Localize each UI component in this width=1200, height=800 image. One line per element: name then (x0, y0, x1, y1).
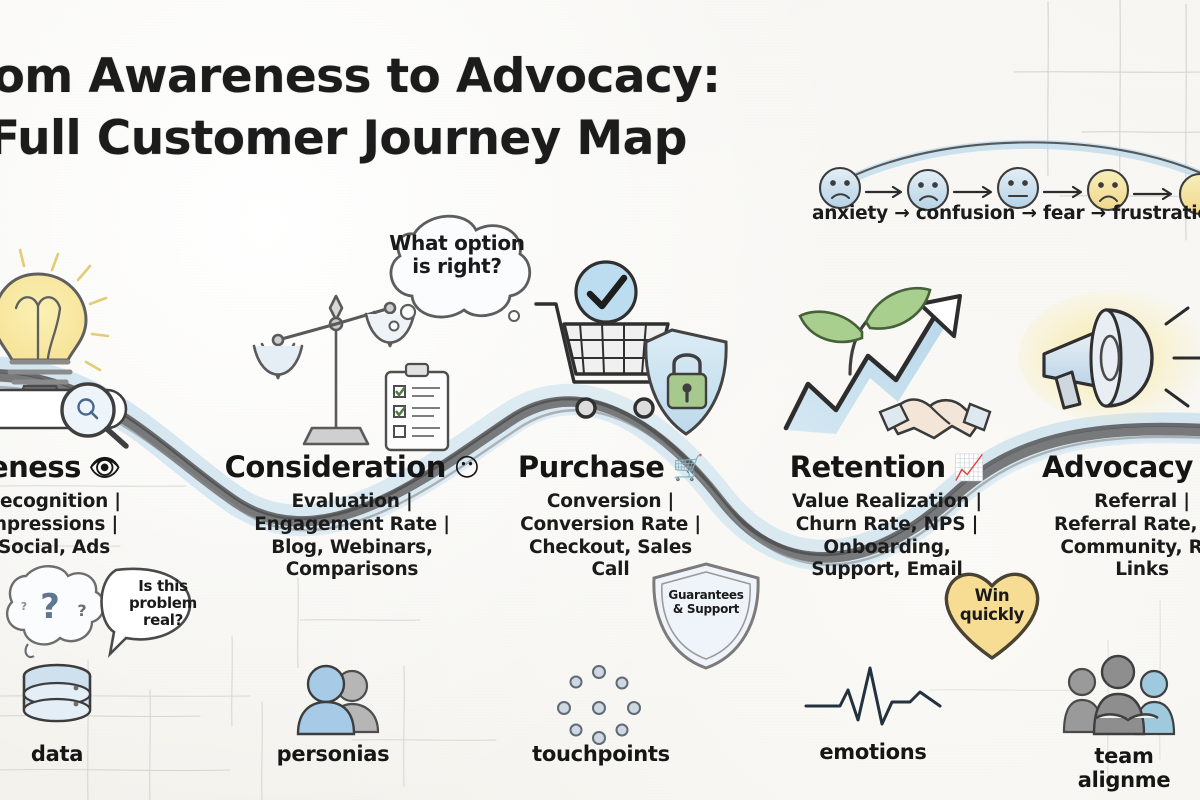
shield-lock-icon (646, 330, 726, 434)
stage-retention-details: Value Realization | Churn Rate, NPS | On… (782, 491, 992, 582)
team-icon (1030, 654, 1200, 740)
purchase-icon-group (540, 262, 740, 442)
title-line-1: rom Awareness to Advocacy: (0, 49, 720, 104)
check-circle-icon (576, 262, 636, 322)
legend-item-data[interactable]: data (0, 658, 142, 766)
stage-retention-label: Retention (790, 450, 946, 484)
legend-label-personias: personias (248, 742, 418, 766)
journey-map-canvas: rom Awareness to Advocacy: Full Customer… (0, 0, 1200, 800)
dot-cluster-icon (516, 658, 686, 738)
stage-consideration[interactable]: Consideration 😶 Evaluation | Engagement … (242, 450, 462, 582)
eye-icon: 👁 (89, 455, 120, 480)
legend-label-data: data (0, 742, 142, 766)
neutral-face-icon: 😶 (454, 455, 480, 480)
stage-consideration-details: Evaluation | Engagement Rate | Blog, Web… (242, 491, 462, 582)
problem-speech-text: Is this problem real? (120, 578, 206, 629)
legend-item-personias[interactable]: personias (248, 660, 418, 766)
question-thought-cloud: ? ? ? (7, 566, 104, 657)
legend-label-touchpoints: touchpoints (516, 742, 686, 766)
stage-awareness-label: wareness (0, 450, 81, 484)
legend-label-team-alignment: team alignme (1048, 744, 1200, 792)
svg-text:?: ? (77, 601, 86, 620)
retention-icon-group (784, 262, 994, 442)
stage-advocacy-details: Referral | Referral Rate, Re Community, … (1042, 491, 1200, 582)
stage-retention[interactable]: Retention 📈 Value Realization | Churn Ra… (782, 450, 992, 582)
svg-text:?: ? (40, 587, 60, 627)
title-line-2: Full Customer Journey Map (0, 108, 770, 170)
legend-item-team-alignment[interactable]: team alignme (1030, 654, 1200, 792)
legend-item-touchpoints[interactable]: touchpoints (516, 658, 686, 766)
legend-label-emotions: emotions (788, 740, 958, 764)
chart-increasing-icon: 📈 (954, 455, 985, 480)
win-quickly-text: Win quickly (950, 586, 1034, 624)
stage-consideration-label: Consideration (225, 450, 446, 484)
stage-purchase-name: Purchase 🛒 (508, 450, 713, 484)
stage-awareness-name: wareness 👁 (0, 450, 170, 484)
stage-consideration-name: Consideration 😶 (242, 450, 462, 484)
stage-advocacy-name: Advocacy (1042, 450, 1200, 484)
heartbeat-icon (788, 662, 958, 736)
handshake-icon (880, 400, 990, 439)
shopping-cart-icon: 🛒 (672, 455, 703, 480)
stage-advocacy[interactable]: Advocacy Referral | Referral Rate, Re Co… (1042, 450, 1200, 582)
guarantees-badge-text: Guarantees & Support (656, 588, 756, 616)
personas-icon (248, 660, 418, 738)
svg-text:?: ? (21, 600, 27, 613)
clipboard-checklist-icon (386, 364, 448, 450)
database-icon (0, 658, 142, 738)
stage-purchase-label: Purchase (518, 450, 665, 484)
legend-item-emotions[interactable]: emotions (788, 662, 958, 764)
stage-advocacy-label: Advocacy (1042, 450, 1193, 484)
page-title: rom Awareness to Advocacy: Full Customer… (0, 46, 770, 170)
stage-purchase-details: Conversion | Conversion Rate | Checkout,… (508, 491, 713, 582)
search-bar-icon (0, 376, 180, 446)
emotion-sequence-label: anxiety → confusion → fear → frustration… (812, 203, 1200, 224)
option-question-text: What option is right? (388, 232, 526, 278)
stage-awareness-details: blem Recognition | ach, Impressions | ar… (0, 491, 170, 559)
stage-retention-name: Retention 📈 (782, 450, 992, 484)
stage-awareness[interactable]: wareness 👁 blem Recognition | ach, Impre… (0, 450, 170, 559)
stage-purchase[interactable]: Purchase 🛒 Conversion | Conversion Rate … (508, 450, 713, 582)
advocacy-icon-group (1018, 276, 1200, 446)
